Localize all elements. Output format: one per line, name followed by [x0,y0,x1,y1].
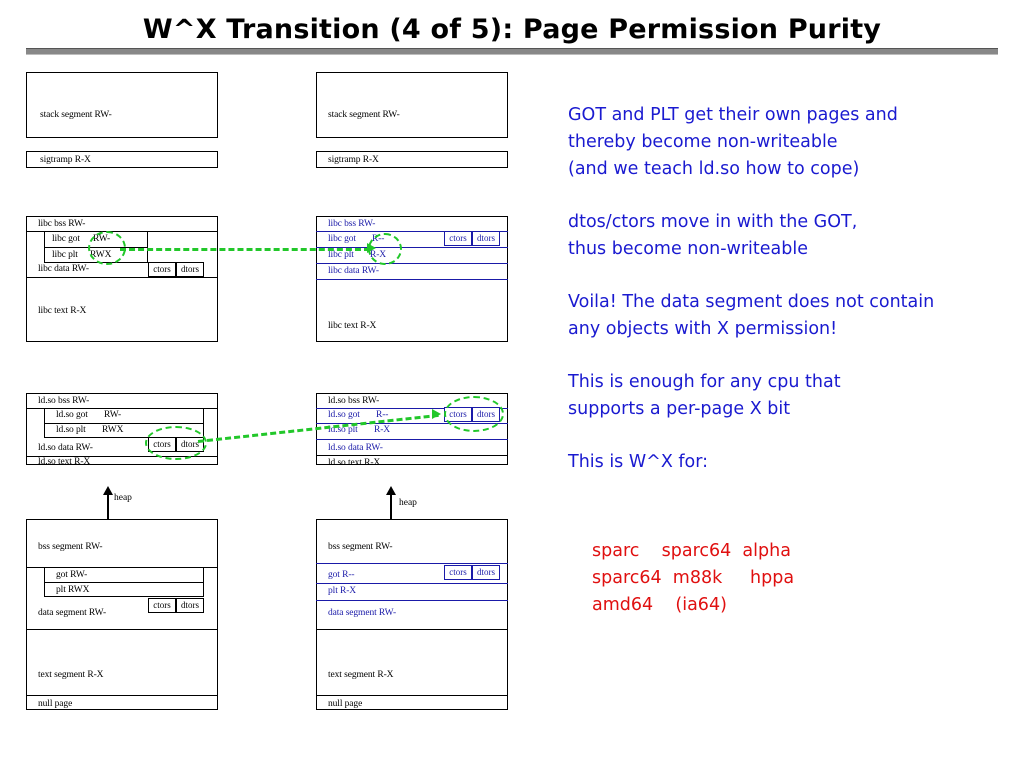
right-libc-bss-label: libc bss RW- [328,219,375,229]
left-ldso-dtors-box: dtors [176,437,204,452]
left-ldso-got-label: ld.so got [56,410,88,420]
note-paragraph-3: Voila! The data segment does not contain… [568,289,1008,343]
notes-panel: GOT and PLT get their own pages and ther… [568,102,1008,490]
left-program-got-label: got RW- [56,570,87,580]
right-sigtramp-label: sigtramp R-X [328,155,379,165]
right-ldso-got-label: ld.so got [328,410,360,420]
architecture-list: sparc sparc64 alpha sparc64 m88k hppa am… [592,538,794,619]
left-ldso-got-perm: RW- [104,410,121,420]
page-title: W^X Transition (4 of 5): Page Permission… [143,14,881,45]
left-libc-got-label: libc got [52,234,80,244]
left-ldso-bss-label: ld.so bss RW- [38,396,89,406]
right-program-got-label: got R-- [328,570,354,580]
right-program-bss-divider [316,563,508,564]
right-ldso-plt-label: ld.so plt [328,425,358,435]
right-program-text-label: text segment R-X [328,670,393,680]
left-heap-arrow-shaft [107,494,109,520]
right-libc-plt-label: libc plt [328,250,354,260]
left-sigtramp-label: sigtramp R-X [40,155,91,165]
left-libc-data-divider [26,277,218,278]
right-libc-got-plt-divider [316,247,508,248]
right-ldso-got-perm: R-- [376,410,388,420]
left-stack-segment-box [26,72,218,138]
left-libc-ctors-box: ctors [148,262,176,277]
title-divider [26,48,998,55]
left-libc-dtors-box: dtors [176,262,204,277]
right-heap-arrow-head [386,486,396,495]
left-libc-plt-perm: RWX [90,250,111,260]
left-libc-data-label: libc data RW- [38,264,89,274]
right-libc-dtors-box: dtors [472,231,500,246]
right-ldso-text-label: ld.so text R-X [328,458,380,468]
right-libc-ctors-box: ctors [444,231,472,246]
right-program-data-label: data segment RW- [328,608,396,618]
left-program-data-divider [26,629,218,630]
right-libc-got-perm: R-- [372,234,384,244]
title-bar: W^X Transition (4 of 5): Page Permission… [0,14,1024,45]
right-program-plt-data-divider [316,600,508,601]
left-heap-label: heap [114,493,132,503]
left-program-bss-label: bss segment RW- [38,542,102,552]
right-program-bss-label: bss segment RW- [328,542,392,552]
right-stack-segment-box [316,72,508,138]
right-libc-got-label: libc got [328,234,356,244]
note-paragraph-2: dtos/ctors move in with the GOT, thus be… [568,209,1008,263]
left-program-nullpage-label: null page [38,699,72,709]
right-program-data-divider [316,629,508,630]
left-libc-text-label: libc text R-X [38,306,86,316]
left-stack-segment-label: stack segment RW- [40,110,112,120]
left-program-ctors-box: ctors [148,598,176,613]
right-libc-plt-perm: R-X [370,250,386,260]
right-program-plt-label: plt R-X [328,586,356,596]
right-ldso-dtors-box: dtors [472,407,500,422]
left-program-text-label: text segment R-X [38,670,103,680]
left-libc-bss-label: libc bss RW- [38,219,85,229]
right-heap-arrow-shaft [390,494,392,520]
note-paragraph-1: GOT and PLT get their own pages and ther… [568,102,1008,183]
left-ldso-got-plt-divider [44,423,204,424]
right-program-ctors-box: ctors [444,565,472,580]
note-paragraph-4: This is enough for any cpu that supports… [568,369,1008,423]
left-libc-got-plt-divider [44,247,148,248]
left-heap-arrow-head [103,486,113,495]
right-libc-plt-data-divider [316,263,508,264]
note-paragraph-5: This is W^X for: [568,449,1008,476]
right-program-dtors-box: dtors [472,565,500,580]
right-libc-data-divider [316,279,508,280]
right-ldso-data-divider [316,455,508,456]
left-ldso-data-label: ld.so data RW- [38,443,93,453]
right-libc-text-label: libc text R-X [328,321,376,331]
left-program-data-label: data segment RW- [38,608,106,618]
left-ldso-plt-label: ld.so plt [56,425,86,435]
left-program-dtors-box: dtors [176,598,204,613]
right-ldso-plt-perm: R-X [374,425,390,435]
left-program-plt-label: plt RWX [56,585,89,595]
left-ldso-plt-perm: RWX [102,425,123,435]
left-libc-got-perm: RW- [93,234,110,244]
right-ldso-ctors-box: ctors [444,407,472,422]
right-program-nullpage-label: null page [328,699,362,709]
right-stack-segment-label: stack segment RW- [328,110,400,120]
left-ldso-ctors-box: ctors [148,437,176,452]
right-libc-data-label: libc data RW- [328,266,379,276]
right-ldso-plt-data-divider [316,439,508,440]
right-ldso-got-plt-divider [316,423,508,424]
left-libc-plt-label: libc plt [52,250,78,260]
right-ldso-bss-label: ld.so bss RW- [328,396,379,406]
left-program-got-plt-divider [44,582,204,583]
left-ldso-text-label: ld.so text R-X [38,457,90,467]
right-program-got-plt-divider [316,583,508,584]
right-program-nullpage-divider [316,695,508,696]
left-program-nullpage-divider [26,695,218,696]
right-heap-label: heap [399,498,417,508]
right-ldso-data-label: ld.so data RW- [328,443,383,453]
